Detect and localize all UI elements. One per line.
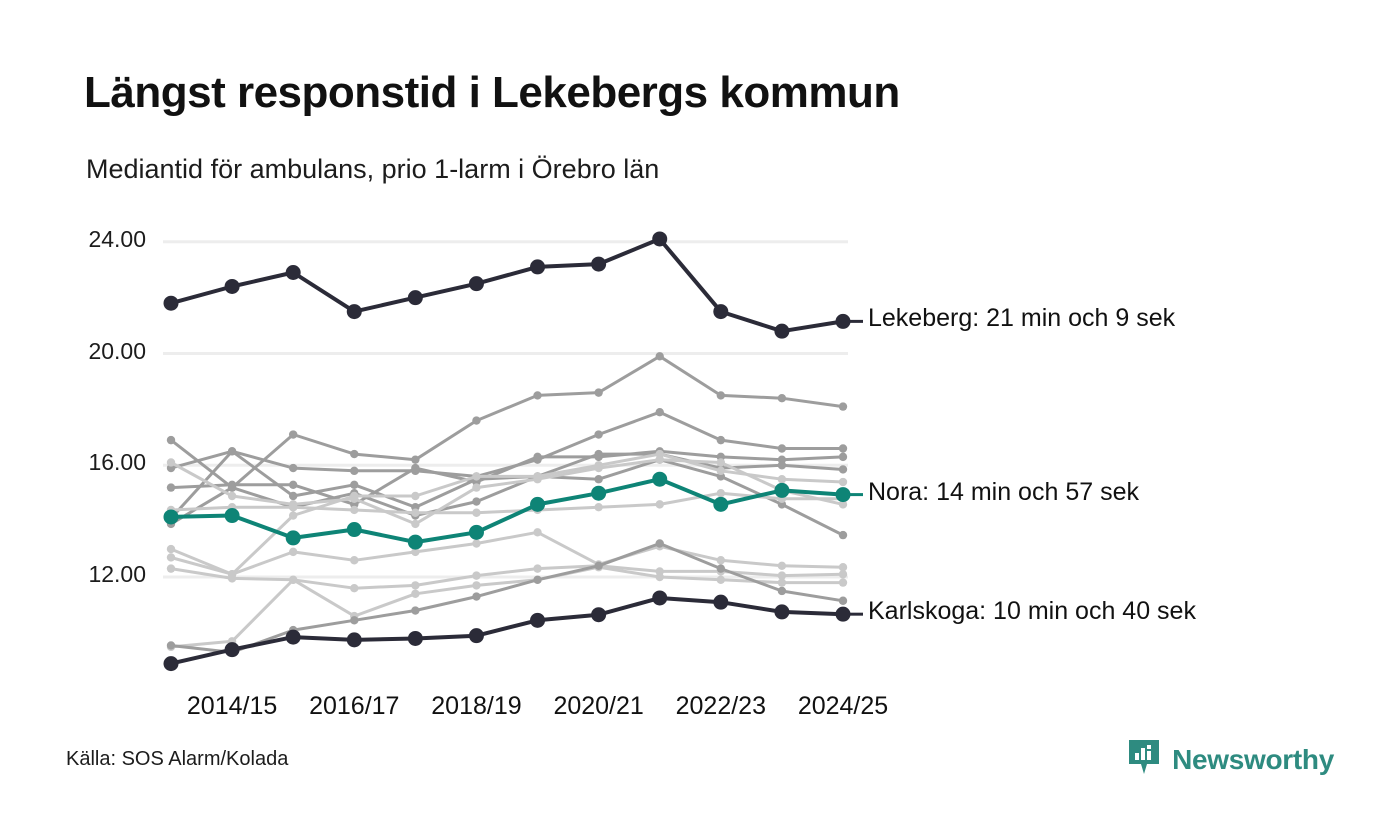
background-series-point	[411, 520, 419, 528]
brand-name: Newsworthy	[1172, 744, 1334, 776]
background-series-point	[411, 464, 419, 472]
background-series-point	[228, 492, 236, 500]
background-series-point	[411, 581, 419, 589]
annotation-leader-lines	[849, 321, 863, 614]
source-note: Källa: SOS Alarm/Kolada	[66, 748, 288, 771]
highlighted-series-point	[469, 525, 484, 540]
background-series-point	[778, 475, 786, 483]
background-series-point	[778, 461, 786, 469]
background-series-point	[533, 453, 541, 461]
background-series-point	[533, 564, 541, 572]
background-series-point	[656, 408, 664, 416]
background-series-point	[472, 592, 480, 600]
highlighted-series-point	[713, 595, 728, 610]
highlighted-series-point	[164, 509, 179, 524]
background-series-point	[350, 506, 358, 514]
background-series-point	[289, 492, 297, 500]
background-series-point	[411, 492, 419, 500]
background-series-point	[289, 511, 297, 519]
background-series-lines	[167, 352, 847, 657]
highlighted-series-point	[225, 508, 240, 523]
background-series-point	[839, 478, 847, 486]
background-series-point	[594, 450, 602, 458]
highlighted-series-point	[836, 487, 851, 502]
background-series-point	[656, 500, 664, 508]
background-series-point	[717, 458, 725, 466]
background-series-point	[472, 509, 480, 517]
background-series-point	[350, 481, 358, 489]
highlighted-series-point	[347, 632, 362, 647]
background-series-point	[411, 455, 419, 463]
background-series-point	[167, 436, 175, 444]
x-axis-tick-label: 2024/25	[763, 692, 923, 721]
highlighted-series-point	[836, 607, 851, 622]
background-series-point	[472, 416, 480, 424]
background-series-point	[717, 489, 725, 497]
background-series-point	[656, 352, 664, 360]
highlighted-series-point	[164, 656, 179, 671]
series-annotation-label: Karlskoga: 10 min och 40 sek	[868, 597, 1196, 626]
background-series-point	[289, 576, 297, 584]
background-series-point	[472, 571, 480, 579]
background-series-point	[350, 556, 358, 564]
series-annotation-label: Nora: 14 min och 57 sek	[868, 478, 1139, 507]
background-series-point	[839, 531, 847, 539]
highlighted-series-point	[591, 486, 606, 501]
background-series-point	[778, 578, 786, 586]
highlighted-series-point	[469, 628, 484, 643]
highlighted-series-point	[225, 279, 240, 294]
background-series-point	[839, 570, 847, 578]
background-series-point	[839, 453, 847, 461]
highlighted-series-point	[408, 535, 423, 550]
background-series-point	[533, 391, 541, 399]
highlighted-series-point	[164, 296, 179, 311]
background-series-point	[594, 430, 602, 438]
background-series-point	[533, 475, 541, 483]
newsworthy-logo: Newsworthy	[1127, 738, 1334, 781]
background-series-point	[472, 483, 480, 491]
background-series-point	[289, 430, 297, 438]
chart-card: Längst responstid i Lekebergs kommun Med…	[0, 0, 1400, 840]
highlighted-series-point	[286, 530, 301, 545]
highlighted-series-point	[652, 472, 667, 487]
highlighted-series-point	[591, 607, 606, 622]
background-series-point	[717, 467, 725, 475]
y-axis-tick-label: 16.00	[26, 449, 146, 476]
background-series-point	[411, 606, 419, 614]
background-series-point	[472, 581, 480, 589]
y-axis-tick-label: 20.00	[26, 338, 146, 365]
highlighted-series-point	[225, 642, 240, 657]
background-series-point	[167, 553, 175, 561]
highlighted-series-point	[347, 304, 362, 319]
background-series-point	[411, 590, 419, 598]
background-series-point	[594, 562, 602, 570]
background-series-point	[778, 562, 786, 570]
highlighted-series-point	[408, 290, 423, 305]
highlighted-series-point	[408, 631, 423, 646]
background-series-point	[289, 548, 297, 556]
background-series-line	[171, 532, 843, 574]
background-series-point	[717, 436, 725, 444]
background-series-point	[228, 447, 236, 455]
background-series-point	[594, 475, 602, 483]
background-series-point	[717, 576, 725, 584]
background-series-point	[350, 450, 358, 458]
background-series-point	[594, 388, 602, 396]
background-series-point	[167, 564, 175, 572]
background-series-point	[167, 545, 175, 553]
background-series-point	[289, 503, 297, 511]
highlighted-series-point	[652, 231, 667, 246]
highlighted-series-point	[652, 590, 667, 605]
highlighted-series-point	[836, 314, 851, 329]
background-series-point	[411, 509, 419, 517]
background-series-point	[472, 472, 480, 480]
background-series-point	[472, 497, 480, 505]
background-series-point	[839, 465, 847, 473]
background-series-point	[472, 539, 480, 547]
background-series-point	[778, 394, 786, 402]
background-series-point	[656, 573, 664, 581]
background-series-point	[778, 587, 786, 595]
highlighted-series-point	[774, 483, 789, 498]
highlighted-series-point	[530, 259, 545, 274]
highlighted-series-point	[530, 613, 545, 628]
background-series-point	[839, 597, 847, 605]
background-series-point	[167, 458, 175, 466]
background-series-point	[228, 574, 236, 582]
background-series-point	[839, 402, 847, 410]
background-series-line	[171, 493, 843, 513]
highlighted-series-point	[713, 497, 728, 512]
background-series-point	[289, 481, 297, 489]
background-series-point	[839, 444, 847, 452]
background-series-point	[656, 455, 664, 463]
y-axis-tick-label: 24.00	[26, 226, 146, 253]
background-series-point	[594, 464, 602, 472]
highlighted-series-point	[591, 257, 606, 272]
highlighted-series-point	[530, 497, 545, 512]
highlighted-series-point	[286, 630, 301, 645]
highlighted-series-point	[347, 522, 362, 537]
background-series-point	[839, 578, 847, 586]
background-series-point	[167, 483, 175, 491]
background-series-point	[350, 495, 358, 503]
y-axis-tick-label: 12.00	[26, 561, 146, 588]
background-series-point	[594, 503, 602, 511]
background-series-point	[350, 616, 358, 624]
highlighted-series-line	[171, 239, 843, 331]
background-series-point	[350, 467, 358, 475]
highlighted-series-point	[286, 265, 301, 280]
background-series-point	[717, 556, 725, 564]
bar-chart-speech-bubble-icon	[1127, 738, 1161, 781]
highlighted-series-point	[713, 304, 728, 319]
highlighted-series-point	[774, 324, 789, 339]
background-series-point	[717, 391, 725, 399]
line-chart-plot: 24.0020.0016.0012.00 2014/152016/172018/…	[0, 0, 1400, 840]
highlighted-series-point	[469, 276, 484, 291]
background-series-point	[289, 464, 297, 472]
background-series-point	[778, 444, 786, 452]
background-series-point	[533, 528, 541, 536]
background-series-point	[167, 641, 175, 649]
background-series-point	[350, 584, 358, 592]
background-series-point	[717, 564, 725, 572]
background-series-point	[228, 483, 236, 491]
background-series-point	[533, 576, 541, 584]
highlighted-series-line	[171, 598, 843, 664]
series-annotation-label: Lekeberg: 21 min och 9 sek	[868, 304, 1175, 333]
background-series-point	[656, 539, 664, 547]
highlighted-series-point	[774, 604, 789, 619]
